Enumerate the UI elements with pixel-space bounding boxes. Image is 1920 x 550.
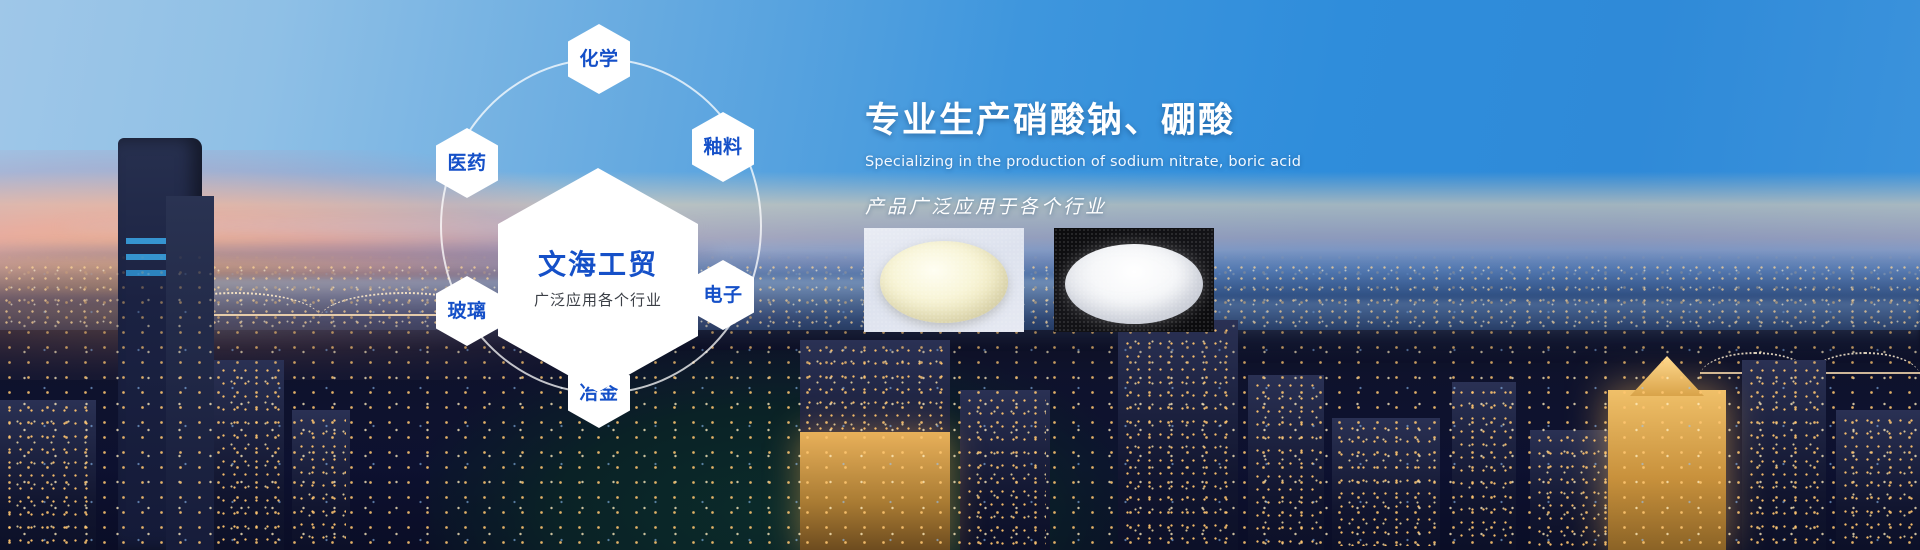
company-tagline: 广泛应用各个行业 — [534, 289, 662, 310]
product-photo-sodium-nitrate[interactable] — [864, 228, 1024, 332]
headline-english: Specializing in the production of sodium… — [865, 154, 1585, 170]
headline-tagline: 产品广泛应用于各个行业 — [865, 192, 1585, 219]
hex-node-label: 釉料 — [703, 138, 742, 157]
industry-hex-diagram: 化学 釉料 医药 玻璃 电子 冶金 文海工贸 广泛应用各个行业 — [430, 28, 770, 428]
company-name: 文海工贸 — [538, 250, 658, 281]
powder-grain-texture — [1054, 228, 1214, 332]
hex-node-label: 玻璃 — [447, 302, 486, 321]
promo-banner: 化学 釉料 医药 玻璃 电子 冶金 文海工贸 广泛应用各个行业 专业生产硝酸钠、… — [0, 0, 1920, 550]
product-photos — [864, 228, 1214, 332]
headline-block: 专业生产硝酸钠、硼酸 Specializing in the productio… — [865, 100, 1585, 219]
hex-node-label: 医药 — [447, 154, 486, 173]
hex-node-label: 化学 — [579, 50, 618, 69]
headline: 专业生产硝酸钠、硼酸 — [865, 100, 1585, 144]
powder-grain-texture — [864, 228, 1024, 332]
hex-node-label: 电子 — [703, 286, 742, 305]
product-photo-boric-acid[interactable] — [1054, 228, 1214, 332]
